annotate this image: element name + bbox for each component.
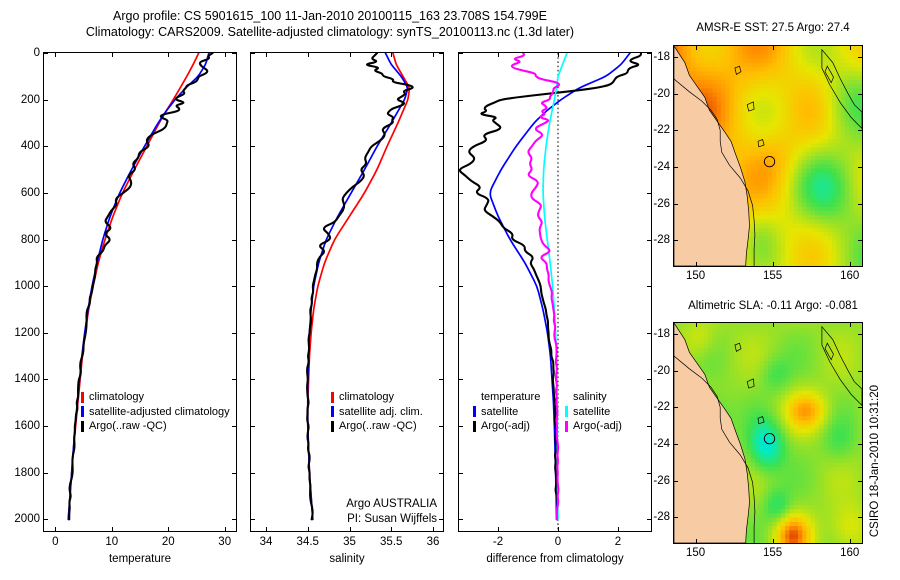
y-tick	[439, 473, 444, 474]
x-tick	[391, 527, 392, 532]
x-tick	[350, 52, 351, 57]
legend-label: climatology	[339, 390, 394, 405]
color-swatch-temperature-satellite	[473, 406, 476, 417]
y-tick-label: 1000	[14, 280, 40, 292]
legend-label: Argo(..raw -QC)	[339, 419, 417, 434]
footer-timestamp: CSIRO 18-Jan-2010 10:31:20	[869, 385, 881, 537]
legend-label: Argo(-adj)	[481, 419, 530, 434]
legend-item: Argo(..raw -QC)	[331, 419, 423, 434]
y-tick-label: 800	[21, 234, 40, 246]
map-y-tick-label: -28	[653, 511, 670, 523]
color-swatch-climatology	[331, 392, 334, 403]
y-tick	[458, 240, 463, 241]
y-tick	[43, 426, 48, 427]
x-tick-label: 35.5	[380, 536, 402, 548]
y-tick	[43, 379, 48, 380]
legend-label: satellite adj. clim.	[339, 405, 423, 420]
y-tick-label: 1600	[14, 420, 40, 432]
color-swatch-salinity-argo	[565, 421, 568, 432]
y-tick	[232, 100, 237, 101]
map-y-tick-label: -22	[653, 124, 670, 136]
y-tick	[232, 519, 237, 520]
map-y-tick-label: -24	[653, 438, 670, 450]
x-tick-label: 0	[555, 536, 561, 548]
x-tick-label: 0	[52, 536, 58, 548]
legend-item: climatology	[331, 390, 423, 405]
map-x-tick-label: 160	[840, 547, 859, 559]
x-tick	[266, 52, 267, 57]
map-x-tick-label: 150	[686, 547, 705, 559]
map-x-tick	[850, 539, 851, 544]
y-tick	[647, 473, 652, 474]
y-tick	[458, 286, 463, 287]
y-tick	[647, 379, 652, 380]
y-tick-label: 2000	[14, 513, 40, 525]
y-tick	[647, 146, 652, 147]
x-tick	[433, 52, 434, 57]
map-y-tick-label: -18	[653, 328, 670, 340]
y-tick	[458, 519, 463, 520]
map-x-tick	[773, 45, 774, 50]
map-x-tick-label: 155	[763, 547, 782, 559]
y-tick	[250, 333, 255, 334]
legend-label: satellite-adjusted climatology	[89, 405, 230, 420]
map-x-tick-label: 160	[840, 270, 859, 282]
y-tick	[43, 286, 48, 287]
sst-map-raster	[674, 46, 862, 266]
y-tick	[439, 240, 444, 241]
x-tick-label: 2	[615, 536, 621, 548]
sla-map[interactable]: 150155160-18-20-22-24-26-28	[673, 322, 863, 544]
x-tick	[168, 527, 169, 532]
x-tick	[168, 52, 169, 57]
map-y-tick	[673, 167, 678, 168]
y-tick-label: 200	[21, 94, 40, 106]
map-x-tick	[850, 262, 851, 267]
x-tick	[225, 527, 226, 532]
x-tick	[308, 52, 309, 57]
legend-label: satellite	[573, 405, 610, 420]
x-tick	[225, 52, 226, 57]
map-y-tick	[673, 407, 678, 408]
y-tick	[250, 473, 255, 474]
x-tick	[498, 52, 499, 57]
y-tick	[43, 519, 48, 520]
x-tick-label: 36	[427, 536, 440, 548]
y-tick-label: 1800	[14, 467, 40, 479]
figure-title-line-2: Climatology: CARS2009. Satellite-adjuste…	[0, 24, 660, 40]
y-tick	[439, 519, 444, 520]
map-y-tick	[673, 240, 678, 241]
difference-legend-temperature: temperature satellite Argo(-adj)	[473, 390, 540, 434]
y-tick	[439, 379, 444, 380]
y-tick	[647, 193, 652, 194]
y-tick-label: 400	[21, 140, 40, 152]
y-tick	[232, 193, 237, 194]
y-tick	[232, 333, 237, 334]
y-tick	[232, 53, 237, 54]
map-x-tick-label: 150	[686, 270, 705, 282]
map-y-tick	[858, 334, 863, 335]
y-tick	[647, 286, 652, 287]
y-tick	[250, 519, 255, 520]
temperature-profile-plot	[44, 53, 236, 531]
figure-title: Argo profile: CS 5901615_100 11-Jan-2010…	[0, 8, 660, 40]
map-x-tick	[696, 539, 697, 544]
map-y-tick	[673, 130, 678, 131]
x-tick-label: 10	[105, 536, 118, 548]
y-tick-label: 0	[34, 47, 40, 59]
difference-legend-salinity: salinity satellite Argo(-adj)	[565, 390, 622, 434]
x-tick-label: -2	[493, 536, 503, 548]
legend-label: climatology	[89, 390, 144, 405]
map-y-tick	[673, 204, 678, 205]
map-y-tick	[858, 517, 863, 518]
x-tick-label: 20	[162, 536, 175, 548]
map-x-tick	[773, 539, 774, 544]
map-x-tick	[696, 322, 697, 327]
difference-axis-title: difference from climatology	[459, 553, 651, 565]
x-tick-label: 30	[218, 536, 231, 548]
x-tick	[112, 52, 113, 57]
map-y-tick-label: -20	[653, 365, 670, 377]
y-tick	[439, 426, 444, 427]
x-tick	[618, 527, 619, 532]
map-y-tick	[858, 204, 863, 205]
x-tick	[266, 527, 267, 532]
legend-item: satellite	[565, 405, 622, 420]
legend-item: Argo(..raw -QC)	[81, 419, 230, 434]
map-x-tick	[696, 45, 697, 50]
map-y-tick	[858, 94, 863, 95]
legend-label: Argo(-adj)	[573, 419, 622, 434]
sst-map-title: AMSR-E SST: 27.5 Argo: 27.4	[658, 22, 888, 34]
argo-credit: Argo AUSTRALIA PI: Susan Wijffels	[346, 497, 437, 526]
x-tick	[308, 527, 309, 532]
y-tick	[439, 333, 444, 334]
y-tick	[250, 286, 255, 287]
y-tick	[232, 426, 237, 427]
y-tick	[43, 100, 48, 101]
legend-item: satellite-adjusted climatology	[81, 405, 230, 420]
map-x-tick	[696, 262, 697, 267]
map-y-tick	[673, 371, 678, 372]
salinity-legend: climatology satellite adj. clim. Argo(..…	[331, 390, 423, 434]
salinity-profile-plot	[251, 53, 443, 531]
map-y-tick	[673, 57, 678, 58]
legend-item: satellite adj. clim.	[331, 405, 423, 420]
legend-item: Argo(-adj)	[473, 419, 540, 434]
x-tick-label: 34.5	[297, 536, 319, 548]
y-tick	[232, 473, 237, 474]
y-tick	[458, 473, 463, 474]
y-tick	[458, 426, 463, 427]
map-y-tick	[858, 371, 863, 372]
y-tick	[458, 146, 463, 147]
map-y-tick	[673, 444, 678, 445]
y-tick	[43, 240, 48, 241]
y-tick	[647, 240, 652, 241]
y-tick-label: 600	[21, 187, 40, 199]
y-tick	[250, 240, 255, 241]
y-tick	[647, 426, 652, 427]
map-y-tick	[858, 240, 863, 241]
y-tick-label: 1200	[14, 327, 40, 339]
y-tick	[647, 100, 652, 101]
y-tick	[250, 53, 255, 54]
map-y-tick	[858, 130, 863, 131]
x-tick	[350, 527, 351, 532]
salinity-axis-title: salinity	[251, 553, 443, 565]
sst-map[interactable]: 150155160-18-20-22-24-26-28	[673, 45, 863, 267]
y-tick	[250, 379, 255, 380]
legend-header: salinity	[565, 390, 622, 405]
map-y-tick-label: -24	[653, 161, 670, 173]
map-y-tick	[858, 57, 863, 58]
y-tick-label: 1400	[14, 373, 40, 385]
map-y-tick	[673, 481, 678, 482]
sla-map-raster	[674, 323, 862, 543]
y-tick	[232, 379, 237, 380]
map-y-tick	[858, 167, 863, 168]
y-tick	[458, 193, 463, 194]
map-x-tick	[850, 322, 851, 327]
map-y-tick	[673, 94, 678, 95]
x-tick	[498, 527, 499, 532]
color-swatch-argo	[331, 421, 334, 432]
map-y-tick	[858, 407, 863, 408]
color-swatch-salinity-satellite	[565, 406, 568, 417]
legend-item: satellite	[473, 405, 540, 420]
y-tick	[43, 193, 48, 194]
difference-profile-panel: difference from climatology temperature …	[458, 52, 652, 532]
x-tick-label: 34	[260, 536, 273, 548]
temperature-axis-title: temperature	[44, 553, 236, 565]
map-y-tick	[673, 517, 678, 518]
legend-item: climatology	[81, 390, 230, 405]
map-y-tick-label: -26	[653, 198, 670, 210]
y-tick	[458, 53, 463, 54]
color-swatch-climatology	[81, 392, 84, 403]
sla-map-title: Altimetric SLA: -0.11 Argo: -0.081	[658, 300, 888, 312]
argo-credit-line-2: PI: Susan Wijffels	[346, 512, 437, 527]
y-tick	[458, 333, 463, 334]
y-tick	[232, 146, 237, 147]
x-tick	[558, 527, 559, 532]
map-y-tick-label: -26	[653, 475, 670, 487]
map-y-tick-label: -20	[653, 88, 670, 100]
x-tick	[112, 527, 113, 532]
map-y-tick	[858, 444, 863, 445]
map-y-tick	[858, 481, 863, 482]
temperature-legend: climatology satellite-adjusted climatolo…	[81, 390, 230, 434]
figure-title-line-1: Argo profile: CS 5901615_100 11-Jan-2010…	[0, 8, 660, 24]
y-tick	[250, 100, 255, 101]
legend-header: temperature	[473, 390, 540, 405]
y-tick	[250, 146, 255, 147]
y-tick	[647, 53, 652, 54]
salinity-profile-panel: salinity climatology satellite adj. clim…	[250, 52, 444, 532]
map-y-tick-label: -22	[653, 401, 670, 413]
legend-item: Argo(-adj)	[565, 419, 622, 434]
x-tick-label: 35	[343, 536, 356, 548]
map-y-tick	[673, 334, 678, 335]
y-tick	[250, 193, 255, 194]
map-x-tick-label: 155	[763, 270, 782, 282]
legend-label: satellite	[481, 405, 518, 420]
color-swatch-satellite	[331, 406, 334, 417]
y-tick	[43, 333, 48, 334]
y-tick	[439, 286, 444, 287]
map-x-tick	[850, 45, 851, 50]
x-tick	[55, 52, 56, 57]
color-swatch-argo	[81, 421, 84, 432]
color-swatch-satellite	[81, 406, 84, 417]
map-y-tick-label: -18	[653, 51, 670, 63]
y-tick	[647, 519, 652, 520]
y-tick	[647, 333, 652, 334]
y-tick	[439, 100, 444, 101]
argo-credit-line-1: Argo AUSTRALIA	[346, 497, 437, 512]
x-tick	[558, 52, 559, 57]
color-swatch-temperature-argo	[473, 421, 476, 432]
y-tick	[458, 100, 463, 101]
y-tick	[232, 286, 237, 287]
y-tick	[250, 426, 255, 427]
y-tick	[439, 193, 444, 194]
map-y-tick-label: -28	[653, 234, 670, 246]
y-tick	[43, 53, 48, 54]
y-tick	[439, 53, 444, 54]
map-x-tick	[773, 322, 774, 327]
temperature-profile-panel: temperature climatology satellite-adjust…	[43, 52, 237, 532]
difference-profile-plot	[459, 53, 651, 531]
y-tick	[43, 146, 48, 147]
x-tick	[55, 527, 56, 532]
y-tick	[43, 473, 48, 474]
y-tick	[232, 240, 237, 241]
legend-label: Argo(..raw -QC)	[89, 419, 167, 434]
x-tick	[391, 52, 392, 57]
y-tick	[458, 379, 463, 380]
x-tick	[618, 52, 619, 57]
x-tick	[433, 527, 434, 532]
y-tick	[439, 146, 444, 147]
map-x-tick	[773, 262, 774, 267]
